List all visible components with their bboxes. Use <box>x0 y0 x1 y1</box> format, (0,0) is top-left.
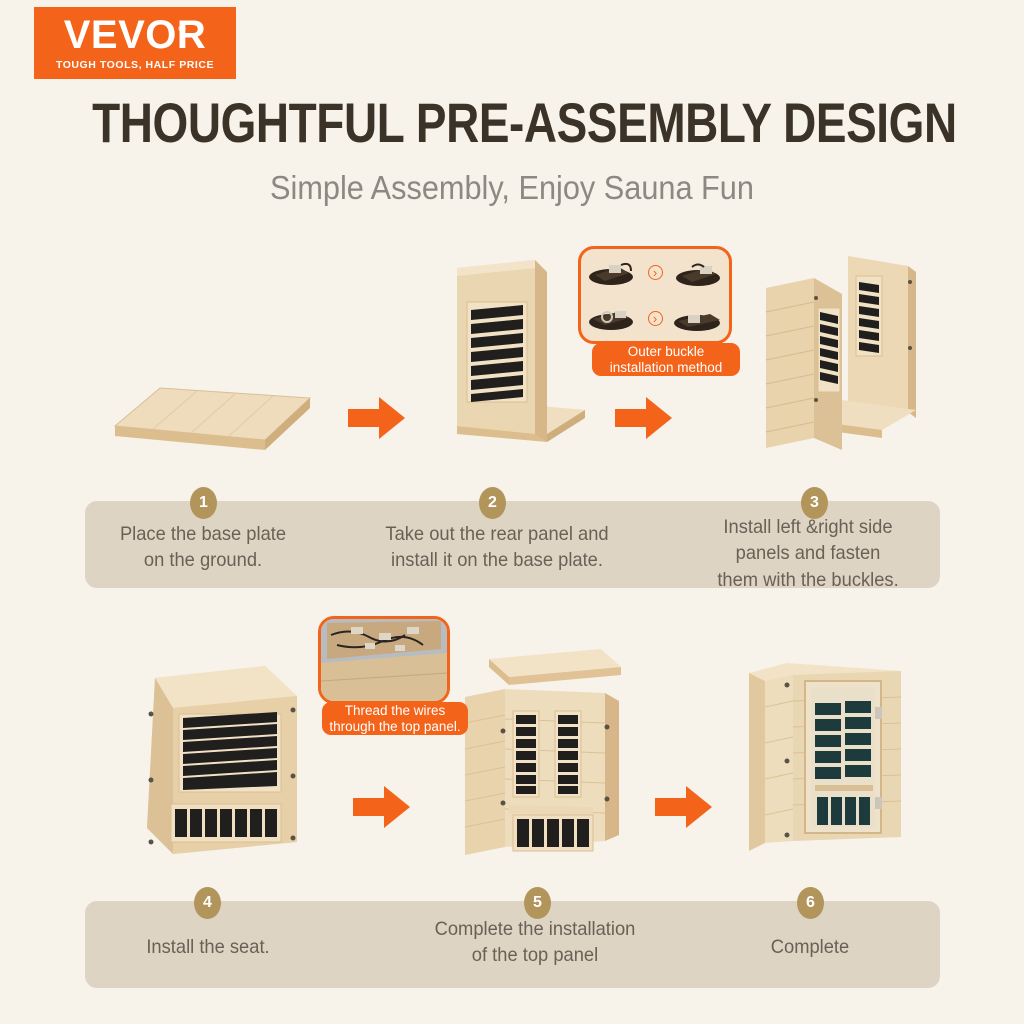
illustration-base-plate <box>105 378 320 468</box>
step-badge-4: 4 <box>194 887 221 919</box>
callout-wiring-label: Thread the wires through the top panel. <box>322 702 468 735</box>
illustration-rear-panel-on-base <box>435 258 595 468</box>
step-caption-4: Install the seat. <box>123 934 292 960</box>
illustration-finished-sauna <box>735 645 915 860</box>
buckle-step-separator-1: › <box>648 265 663 280</box>
step-caption-1: Place the base plate on the ground. <box>104 521 301 574</box>
step-caption-3: Install left &right side panels and fast… <box>704 514 913 593</box>
buckle-photo-2 <box>670 257 726 287</box>
buckle-photo-grid: › › <box>581 249 729 341</box>
wiring-photo <box>321 619 447 701</box>
arrow-step4-to-step5 <box>353 785 411 829</box>
callout-buckle-label-text: Outer buckle installation method <box>610 344 723 375</box>
buckle-photo-1 <box>585 257 641 287</box>
illustration-side-panels <box>752 252 930 470</box>
logo-word-text: VEVOR <box>64 13 207 57</box>
infographic-page: VEVOR ® TOUGH TOOLS, HALF PRICE THOUGHTF… <box>0 0 1024 1024</box>
step-badge-2: 2 <box>479 487 506 519</box>
callout-wiring-label-text: Thread the wires through the top panel. <box>329 703 460 734</box>
arrow-step5-to-step6 <box>655 785 713 829</box>
page-title: THOUGHTFUL PRE-ASSEMBLY DESIGN <box>92 95 932 151</box>
step-caption-2: Take out the rear panel and install it o… <box>366 521 627 574</box>
callout-buckle-photo-frame: › › <box>578 246 732 344</box>
vevor-logo: VEVOR ® TOUGH TOOLS, HALF PRICE <box>34 7 236 79</box>
buckle-photo-3 <box>585 303 641 333</box>
step-caption-5: Complete the installation of the top pan… <box>418 916 653 969</box>
arrow-step1-to-step2 <box>348 396 406 440</box>
callout-wiring-photo-frame <box>318 616 450 704</box>
buckle-step-separator-2: › <box>648 311 663 326</box>
illustration-cabin-with-top-panel <box>443 635 633 865</box>
step-badge-1: 1 <box>190 487 217 519</box>
illustration-seat-top-view <box>133 652 313 867</box>
logo-wordmark: VEVOR ® <box>64 15 207 55</box>
logo-tagline: TOUGH TOOLS, HALF PRICE <box>56 60 214 71</box>
step-caption-6: Complete <box>725 934 894 960</box>
arrow-step2-to-step3 <box>615 396 673 440</box>
callout-buckle-label: Outer buckle installation method <box>592 343 740 376</box>
registered-trademark-icon: ® <box>178 25 186 35</box>
step-badge-5: 5 <box>524 887 551 919</box>
page-subtitle: Simple Assembly, Enjoy Sauna Fun <box>36 168 988 208</box>
step-badge-6: 6 <box>797 887 824 919</box>
buckle-photo-4 <box>670 303 726 333</box>
